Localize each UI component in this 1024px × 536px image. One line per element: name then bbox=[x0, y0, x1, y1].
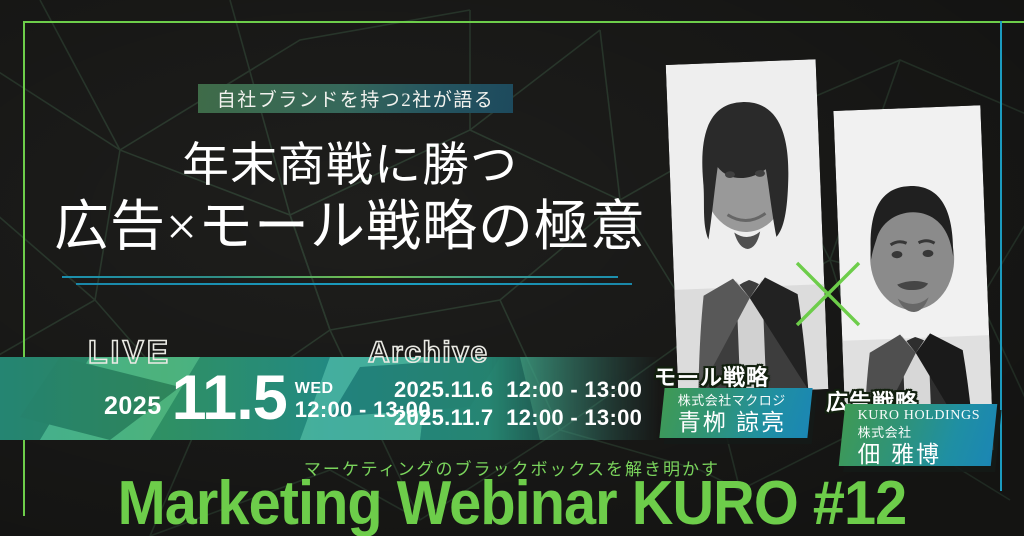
webinar-banner: 自社ブランドを持つ2社が語る 年末商戦に勝つ 広告×モール戦略の極意 bbox=[0, 0, 1024, 536]
page-title: 年末商戦に勝つ 広告×モール戦略の極意 bbox=[40, 140, 660, 258]
speaker-1-name: 青栁 諒亮 bbox=[678, 410, 800, 435]
speaker-2-nameplate: KURO HOLDINGS 株式会社 佃 雅博 bbox=[839, 404, 998, 466]
title-underline-primary bbox=[62, 276, 618, 278]
frame-line-left bbox=[23, 21, 25, 516]
live-label: LIVE bbox=[88, 334, 171, 371]
speaker-1-nameplate: 株式会社マクロジ 青栁 諒亮 bbox=[659, 388, 812, 438]
title-line-1: 年末商戦に勝つ bbox=[40, 140, 660, 194]
archive-label: Archive bbox=[368, 336, 489, 370]
subtitle-text: 自社ブランドを持つ2社が語る bbox=[217, 85, 495, 112]
live-day: 11.5 bbox=[172, 372, 287, 425]
archive-row: 2025.11.6 12:00 - 13:00 bbox=[394, 376, 642, 404]
speaker-2-company-suffix: 株式会社 bbox=[858, 425, 984, 441]
subtitle-badge: 自社ブランドを持つ2社が語る bbox=[198, 84, 513, 113]
x-cross-icon bbox=[792, 258, 864, 330]
speaker-2-company: KURO HOLDINGS bbox=[858, 407, 984, 425]
footer-title-bar: Marketing Webinar KURO #12 bbox=[0, 470, 1024, 536]
archive-schedule: 2025.11.6 12:00 - 13:00 2025.11.7 12:00 … bbox=[394, 376, 642, 432]
frame-line-top bbox=[23, 21, 1024, 23]
speaker-2-name: 佃 雅博 bbox=[858, 442, 984, 467]
title-line-2: 広告×モール戦略の極意 bbox=[40, 196, 660, 259]
speaker-1-company: 株式会社マクロジ bbox=[678, 393, 800, 409]
live-year: 2025 bbox=[104, 392, 162, 421]
archive-row: 2025.11.7 12:00 - 13:00 bbox=[394, 404, 642, 432]
speaker-photo-1 bbox=[666, 59, 829, 395]
live-schedule: 2025 11.5 WED 12:00 - 13:00 bbox=[104, 372, 431, 425]
title-underline-secondary bbox=[76, 283, 632, 285]
footer-title: Marketing Webinar KURO #12 bbox=[118, 468, 907, 536]
